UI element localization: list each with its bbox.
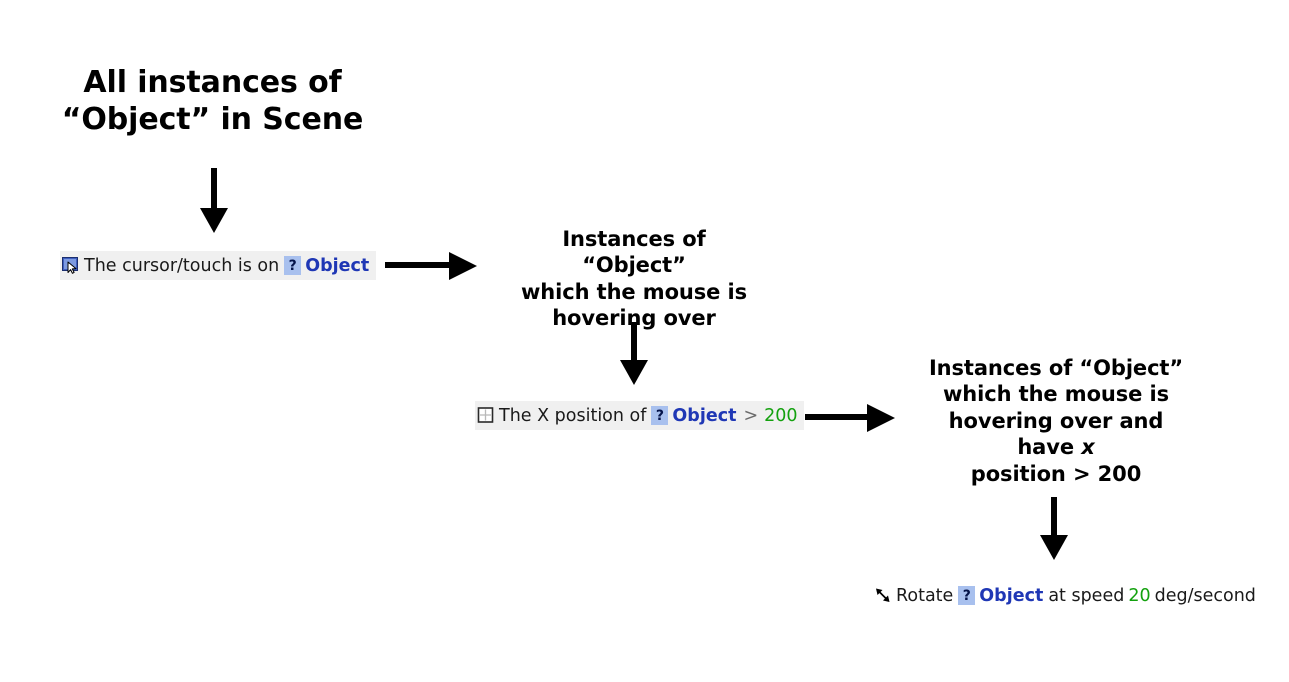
annotation-line: “Object” in Scene (60, 102, 365, 139)
annotation-line: Instances of “Object” (925, 355, 1187, 381)
annotation-line: which the mouse is (925, 381, 1187, 407)
object-token[interactable]: ? Object (284, 256, 369, 276)
block-text: Rotate (896, 586, 953, 606)
block-rotate-object[interactable]: Rotate ? Object at speed 20 deg/second (872, 581, 1262, 610)
question-chip-icon: ? (958, 586, 975, 605)
block-text-after: deg/second (1155, 586, 1256, 606)
object-label: Object (305, 256, 369, 276)
diagram-canvas: All instances of “Object” in Scene The c… (0, 0, 1289, 682)
annotation-line: position > 200 (925, 461, 1187, 487)
annotation-all-instances: All instances of “Object” in Scene (60, 65, 365, 138)
block-text: The X position of (499, 406, 646, 426)
annotation-line-text: hovering over and have (949, 409, 1164, 459)
arrow-xpos-to-hoverx (805, 402, 905, 434)
block-x-position-of-object[interactable]: The X position of ? Object > 200 (475, 401, 804, 430)
annotation-hover-instances: Instances of “Object” which the mouse is… (510, 226, 758, 332)
block-text-middle: at speed (1048, 586, 1124, 606)
block-text: The cursor/touch is on (84, 256, 279, 276)
block-cursor-on-object[interactable]: The cursor/touch is on ? Object (60, 251, 376, 280)
question-chip-icon: ? (284, 256, 301, 275)
annotation-hover-and-x-instances: Instances of “Object” which the mouse is… (925, 355, 1187, 487)
arrow-cursor-to-hover (385, 250, 485, 282)
annotation-line: All instances of (60, 65, 365, 102)
arrow-hover-to-xpos (618, 322, 650, 386)
arrow-hoverx-to-rotate (1038, 497, 1070, 561)
arrow-title-to-cursor (198, 168, 230, 234)
position-grid-icon (477, 407, 495, 424)
object-token[interactable]: ? Object (958, 586, 1043, 606)
annotation-line: Instances of “Object” (510, 226, 758, 279)
annotation-line: which the mouse is (510, 279, 758, 305)
speed-value[interactable]: 20 (1128, 586, 1150, 606)
comparison-operator[interactable]: > (743, 406, 758, 426)
object-label: Object (979, 586, 1043, 606)
comparison-value[interactable]: 200 (764, 406, 797, 426)
object-label: Object (672, 406, 736, 426)
cursor-on-screen-icon (62, 257, 80, 274)
annotation-italic-x: x (1081, 435, 1094, 459)
question-chip-icon: ? (651, 406, 668, 425)
annotation-line: hovering over and have x (925, 408, 1187, 461)
object-token[interactable]: ? Object (651, 406, 736, 426)
rotate-diagonal-arrow-icon (874, 587, 892, 604)
